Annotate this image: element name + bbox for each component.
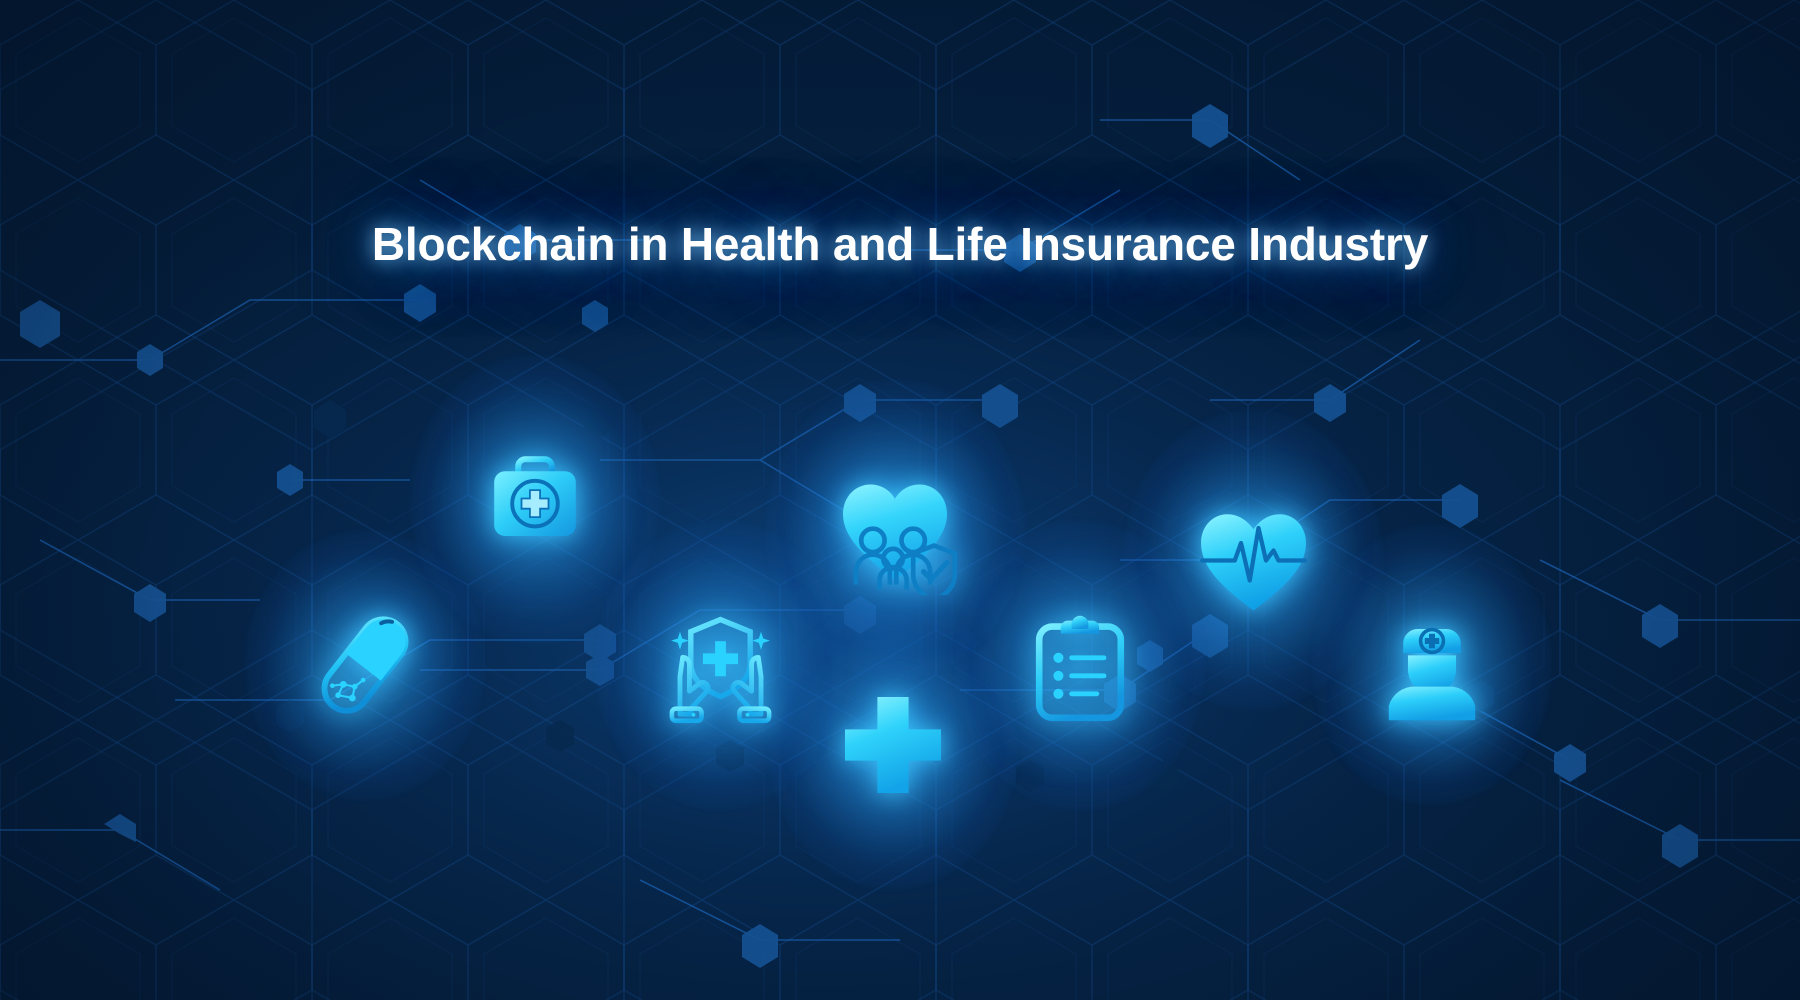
icon-tile-first-aid-kit[interactable] — [450, 415, 620, 585]
page-title: Blockchain in Health and Life Insurance … — [372, 217, 1428, 271]
icon-tile-heart-pulse[interactable] — [1168, 475, 1338, 645]
family-insurance-icon — [830, 465, 960, 595]
hands-holding-shield-icon — [653, 598, 788, 733]
icon-tile-capsule[interactable] — [280, 580, 450, 750]
title-container: Blockchain in Health and Life Insurance … — [0, 186, 1800, 302]
heart-pulse-icon — [1191, 498, 1316, 623]
first-aid-kit-icon — [475, 440, 595, 560]
icon-tile-medical-cross[interactable] — [808, 660, 978, 830]
doctor-avatar-icon — [1372, 605, 1492, 725]
clipboard-checklist-icon — [1020, 605, 1140, 725]
icon-tile-clipboard[interactable] — [995, 580, 1165, 750]
icon-tile-family-shield[interactable] — [810, 445, 980, 615]
icon-tile-hands-shield[interactable] — [635, 580, 805, 750]
hero-banner: Blockchain in Health and Life Insurance … — [0, 0, 1800, 1000]
medical-cross-icon — [833, 685, 953, 805]
icon-tile-doctor[interactable] — [1347, 580, 1517, 750]
pill-capsule-icon — [300, 600, 430, 730]
